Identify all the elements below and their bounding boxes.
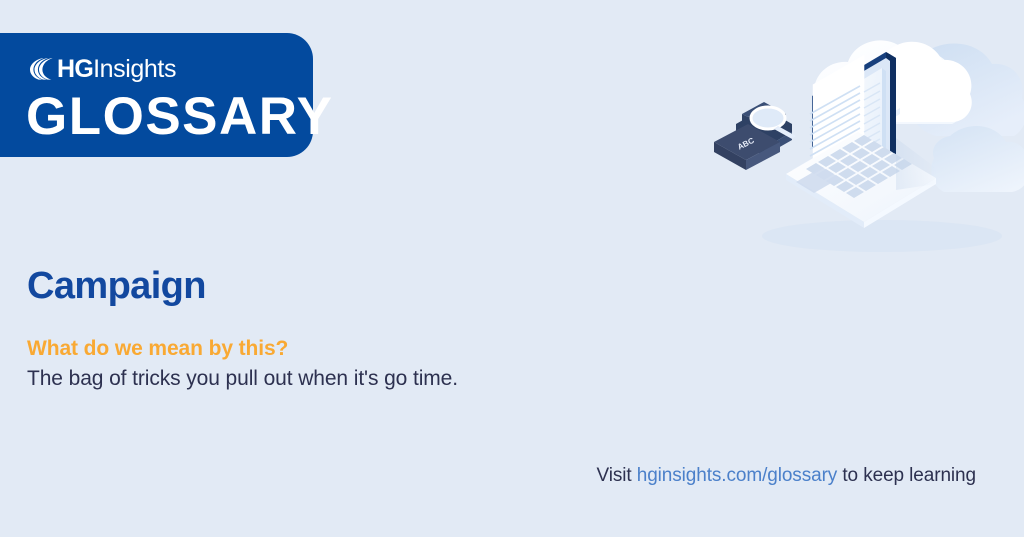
glossary-banner-word: GLOSSARY bbox=[26, 89, 333, 145]
isometric-laptop-book-cloud-illustration: ABC bbox=[700, 18, 1024, 270]
glossary-link[interactable]: hginsights.com/glossary bbox=[637, 465, 837, 486]
hg-concentric-arcs-icon bbox=[28, 57, 54, 81]
definition-text: The bag of tricks you pull out when it's… bbox=[27, 365, 458, 393]
logo-text-hg: HG bbox=[57, 57, 93, 82]
footer-cta: Visit hginsights.com/glossary to keep le… bbox=[597, 463, 977, 489]
prompt-label: What do we mean by this? bbox=[27, 335, 288, 362]
brand-badge: HG Insights GLOSSARY bbox=[0, 33, 313, 157]
page-title: Campaign bbox=[27, 264, 206, 308]
footer-prefix: Visit bbox=[597, 465, 637, 486]
logo-text-insights: Insights bbox=[93, 57, 176, 82]
glossary-card: HG Insights GLOSSARY bbox=[0, 0, 1024, 537]
footer-suffix: to keep learning bbox=[837, 465, 976, 486]
hg-insights-logo: HG Insights bbox=[28, 55, 176, 83]
